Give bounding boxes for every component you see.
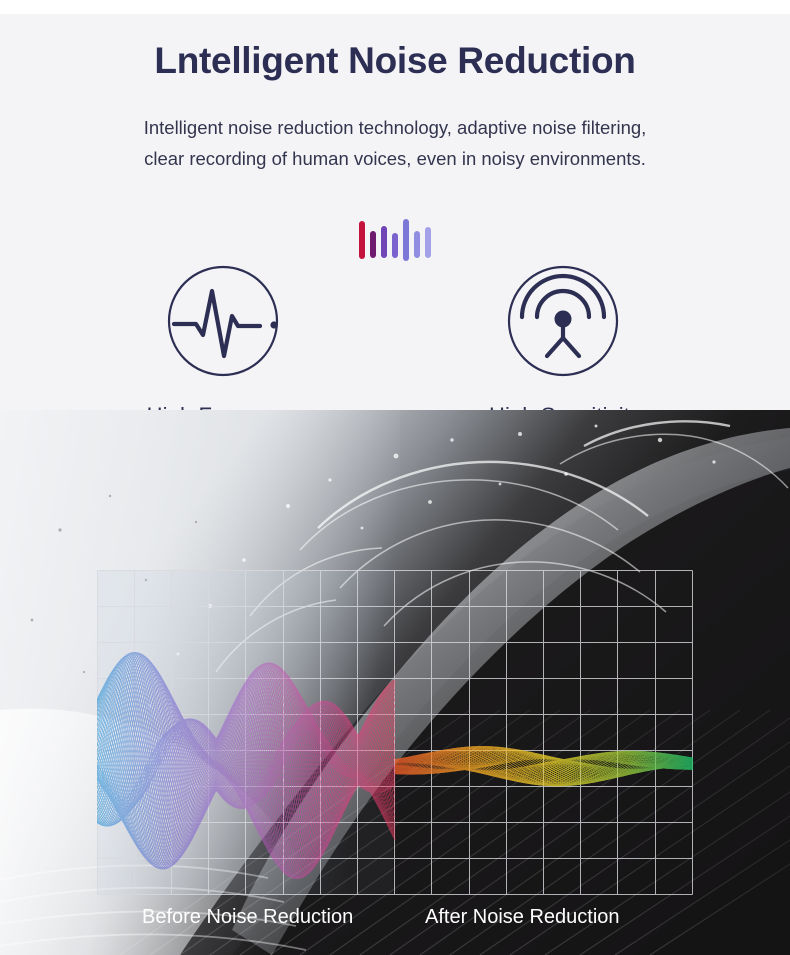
feature-high-frequency: High Frequency: [95, 264, 355, 429]
page-subtitle: Intelligent noise reduction technology, …: [0, 112, 790, 174]
noise-comparison-chart: [97, 570, 693, 895]
antenna-broadcast-icon: [506, 264, 624, 382]
feature-high-sensitivity: High Sensitivity: [435, 264, 695, 429]
chart-legend: Before Noise Reduction After Noise Reduc…: [0, 906, 790, 946]
audio-level-bar-4: [403, 219, 409, 261]
subtitle-line-2: clear recording of human voices, even in…: [0, 143, 790, 174]
pulse-waveform-icon: [166, 264, 284, 382]
audio-level-bar-5: [414, 231, 420, 258]
audio-level-bar-3: [392, 233, 398, 258]
audio-level-bar-2: [381, 226, 387, 258]
audio-level-bars: [0, 210, 790, 270]
legend-before-label: Before Noise Reduction: [142, 906, 353, 929]
audio-level-bar-0: [359, 221, 365, 259]
top-divider: [0, 0, 790, 14]
header-section: Lntelligent Noise Reduction Intelligent …: [0, 14, 790, 424]
page-title: Lntelligent Noise Reduction: [0, 40, 790, 82]
audio-level-bar-1: [370, 231, 376, 258]
subtitle-line-1: Intelligent noise reduction technology, …: [0, 112, 790, 143]
audio-level-bar-6: [425, 227, 431, 258]
product-feature-page: Lntelligent Noise Reduction Intelligent …: [0, 0, 790, 955]
legend-after-label: After Noise Reduction: [425, 906, 620, 929]
